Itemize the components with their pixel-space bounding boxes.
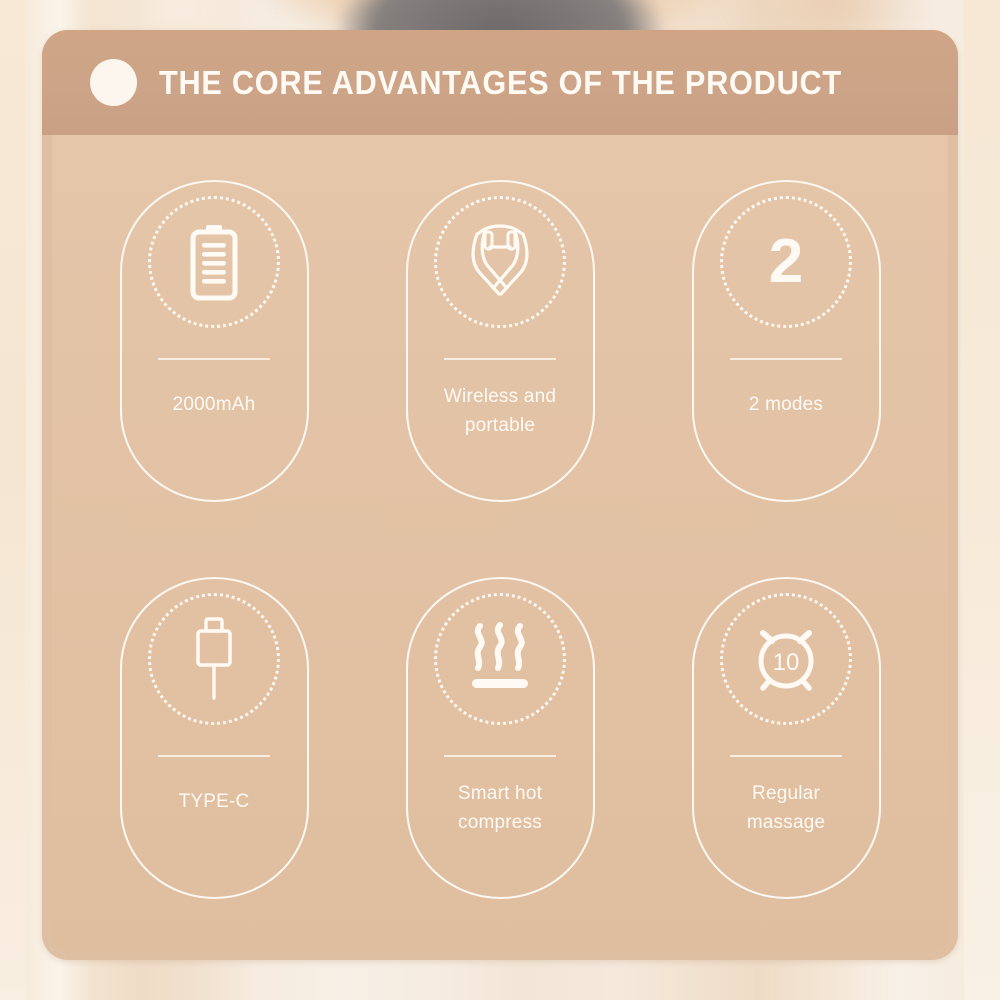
page-title: THE CORE ADVANTAGES OF THE PRODUCT <box>159 64 842 102</box>
advantages-grid: 2000mAh <box>52 135 948 953</box>
icon-ring <box>148 196 280 328</box>
icon-ring <box>148 593 280 725</box>
infographic-stage: THE CORE ADVANTAGES OF THE PRODUCT <box>0 0 1000 1000</box>
left-edge-band <box>0 0 26 1000</box>
advantage-label: 2 modes <box>711 390 861 419</box>
card-divider <box>444 755 556 757</box>
panel-header: THE CORE ADVANTAGES OF THE PRODUCT <box>42 30 958 135</box>
right-edge-band <box>964 0 1000 1000</box>
icon-ring: 2 <box>720 196 852 328</box>
card-divider <box>158 755 270 757</box>
advantage-card-type-c[interactable]: TYPE-C <box>120 577 309 899</box>
battery-icon <box>186 223 242 301</box>
advantage-card-modes[interactable]: 2 2 modes <box>692 180 881 502</box>
alarm-clock-icon: 10 <box>744 617 828 701</box>
heat-waves-icon <box>460 622 540 696</box>
advantage-label: Wireless andportable <box>425 382 575 440</box>
card-divider <box>158 358 270 360</box>
icon-ring: 10 <box>720 593 852 725</box>
usb-type-c-plug-icon <box>188 616 240 702</box>
panel-body: 2000mAh <box>52 135 948 953</box>
advantage-label: Smart hotcompress <box>425 779 575 837</box>
advantage-label: TYPE-C <box>139 787 289 816</box>
alarm-clock-value: 10 <box>773 649 800 676</box>
card-divider <box>730 358 842 360</box>
core-advantages-panel: THE CORE ADVANTAGES OF THE PRODUCT <box>42 30 958 960</box>
advantage-card-battery[interactable]: 2000mAh <box>120 180 309 502</box>
card-divider <box>730 755 842 757</box>
advantage-card-wireless[interactable]: Wireless andportable <box>406 180 595 502</box>
dot-bullet-icon <box>90 59 137 106</box>
card-divider <box>444 358 556 360</box>
icon-ring <box>434 593 566 725</box>
advantage-card-hot-compress[interactable]: Smart hotcompress <box>406 577 595 899</box>
advantage-label: 2000mAh <box>139 390 289 419</box>
icon-ring <box>434 196 566 328</box>
advantage-label: Regularmassage <box>711 779 861 837</box>
advantage-card-regular-massage[interactable]: 10 Regularmassage <box>692 577 881 899</box>
number-two-icon: 2 <box>769 231 803 293</box>
neck-massager-icon <box>457 218 543 306</box>
